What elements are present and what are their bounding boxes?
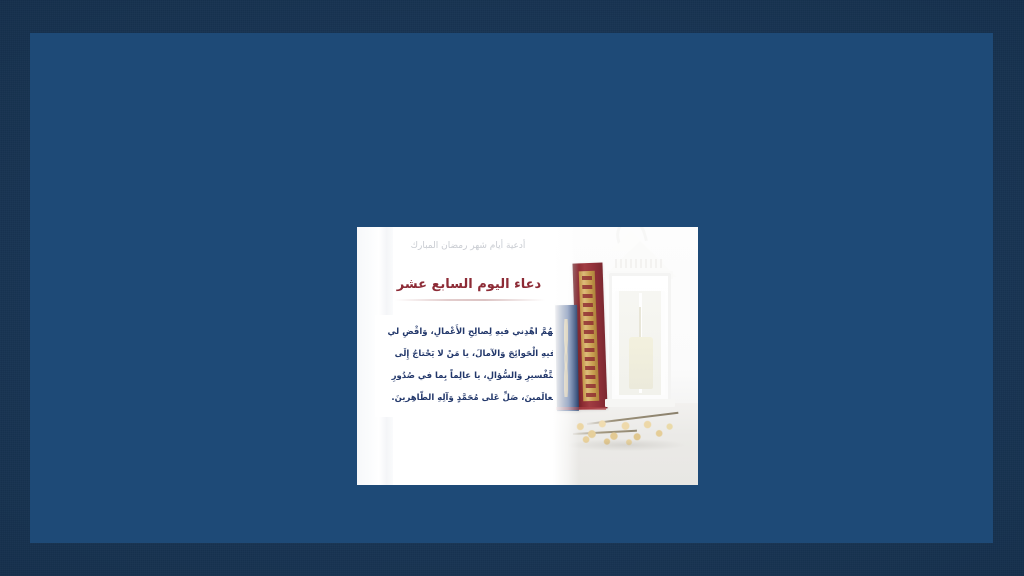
pillar-candle [629, 337, 653, 389]
dua-line: التَّفْسيرِ وَالسُّؤالِ، يا عالِماً بِما… [379, 365, 571, 387]
card-header-text: أدعية أيام شهر رمضان المبارك [365, 240, 577, 252]
photo-left-fade [553, 227, 579, 485]
dua-text-block: اَللّهُمَّ اهْدِني فيهِ لِصالِحِ الأَعْم… [375, 315, 575, 417]
candle-wick [639, 307, 641, 339]
still-life-photo [553, 227, 698, 485]
dua-line: الْعالَمينَ، صَلِّ عَلى مُحَمَّدٍ وَآلِه… [379, 387, 571, 409]
card-title: دعاء اليوم السابع عشر [365, 277, 577, 292]
photo-shadow [567, 439, 685, 451]
lantern-vent [615, 259, 663, 268]
dua-line: اَللّهُمَّ اهْدِني فيهِ لِصالِحِ الأَعْم… [379, 321, 571, 343]
dua-line: فيهِ الْحَوائِجَ وَالآمالَ، يا مَنْ لا ي… [379, 343, 571, 365]
slide-panel: أدعية أيام شهر رمضان المبارك دعاء اليوم … [30, 33, 993, 543]
title-divider [395, 299, 545, 301]
ramadan-dua-card: أدعية أيام شهر رمضان المبارك دعاء اليوم … [357, 227, 698, 485]
lantern-base [605, 399, 675, 407]
card-text-column: أدعية أيام شهر رمضان المبارك دعاء اليوم … [365, 227, 577, 485]
